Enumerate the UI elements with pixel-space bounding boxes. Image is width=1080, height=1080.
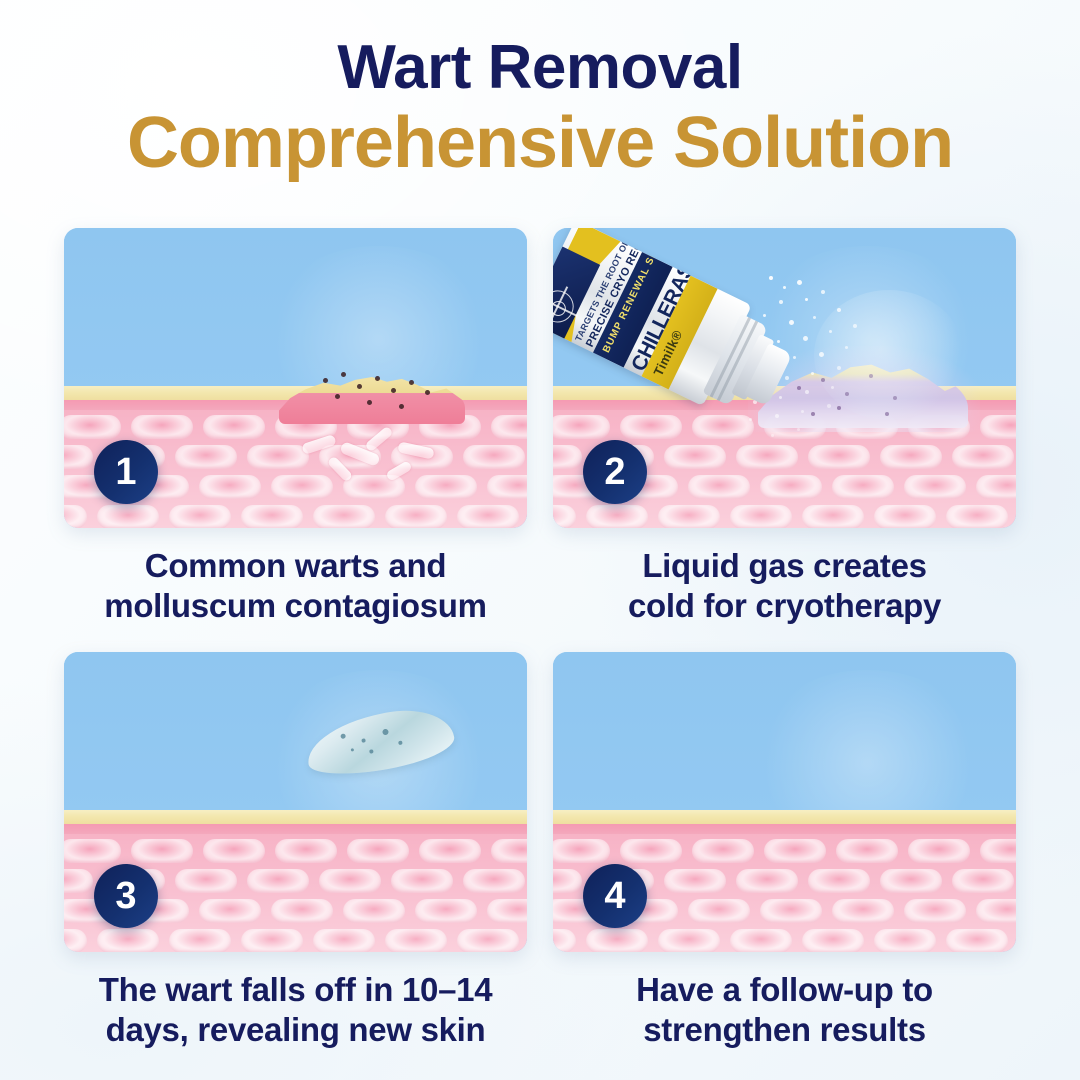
caption-line-2: days, revealing new skin bbox=[64, 1010, 527, 1050]
caption-line-1: Have a follow-up to bbox=[553, 970, 1016, 1010]
wart-crust bbox=[279, 376, 465, 424]
caption-line-2: strengthen results bbox=[553, 1010, 1016, 1050]
page-title: Wart Removal Comprehensive Solution bbox=[0, 34, 1080, 184]
epidermis-layer bbox=[553, 810, 1016, 824]
cell-row bbox=[553, 926, 1016, 952]
step-card-4[interactable]: 4 Have a follow-up to strengthen results bbox=[553, 652, 1016, 1050]
step-1-caption: Common warts and molluscum contagiosum bbox=[64, 546, 527, 626]
step-2-caption: Liquid gas creates cold for cryotherapy bbox=[553, 546, 1016, 626]
wart-lesion bbox=[279, 360, 465, 424]
cell-row bbox=[553, 502, 1016, 528]
title-line-primary: Wart Removal bbox=[0, 34, 1080, 102]
cell-row bbox=[64, 502, 527, 528]
step-3-caption: The wart falls off in 10–14 days, reveal… bbox=[64, 970, 527, 1050]
caption-line-2: cold for cryotherapy bbox=[553, 586, 1016, 626]
step-number-badge: 3 bbox=[94, 864, 158, 928]
cryo-target-icon bbox=[553, 285, 579, 328]
epidermis-layer bbox=[64, 810, 527, 824]
step-number-badge: 2 bbox=[583, 440, 647, 504]
step-card-1[interactable]: 1 Common warts and molluscum contagiosum bbox=[64, 228, 527, 626]
step-4-illustration: 4 bbox=[553, 652, 1016, 952]
cell-row bbox=[64, 926, 527, 952]
step-number-badge: 1 bbox=[94, 440, 158, 504]
caption-line-2: molluscum contagiosum bbox=[64, 586, 527, 626]
steps-grid: 1 Common warts and molluscum contagiosum bbox=[64, 228, 1016, 1050]
step-3-illustration: 3 bbox=[64, 652, 527, 952]
dermis-upper-band bbox=[553, 824, 1016, 834]
step-number-badge: 4 bbox=[583, 864, 647, 928]
caption-line-1: The wart falls off in 10–14 bbox=[64, 970, 527, 1010]
caption-line-1: Common warts and bbox=[64, 546, 527, 586]
steps-row-2: 3 The wart falls off in 10–14 days, reve… bbox=[64, 652, 1016, 1050]
step-card-2[interactable]: Timilk® CHILLERASE BUMP RENEWAL SPRAY PR… bbox=[553, 228, 1016, 626]
dermis-upper-band bbox=[64, 824, 527, 834]
caption-line-1: Liquid gas creates bbox=[553, 546, 1016, 586]
cell-row bbox=[553, 836, 1016, 866]
steps-row-1: 1 Common warts and molluscum contagiosum bbox=[64, 228, 1016, 626]
title-line-secondary: Comprehensive Solution bbox=[0, 102, 1080, 184]
step-card-3[interactable]: 3 The wart falls off in 10–14 days, reve… bbox=[64, 652, 527, 1050]
cell-row bbox=[64, 836, 527, 866]
step-2-illustration: Timilk® CHILLERASE BUMP RENEWAL SPRAY PR… bbox=[553, 228, 1016, 528]
step-4-caption: Have a follow-up to strengthen results bbox=[553, 970, 1016, 1050]
step-1-illustration: 1 bbox=[64, 228, 527, 528]
